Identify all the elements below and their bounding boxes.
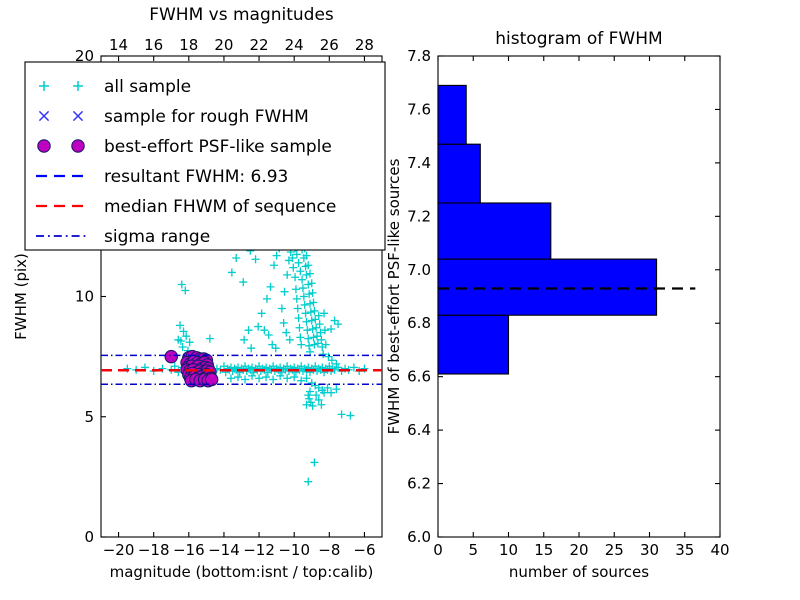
histogram-x-axis-label: number of sources xyxy=(509,563,649,581)
plus-icon xyxy=(310,333,318,341)
scatter-top-tick-label: 20 xyxy=(214,36,233,54)
plus-icon xyxy=(317,336,325,344)
scatter-y-tick-label: 5 xyxy=(84,408,94,426)
plus-icon xyxy=(302,271,310,279)
plus-icon xyxy=(228,268,236,276)
plus-icon xyxy=(245,326,253,334)
plus-icon xyxy=(331,317,339,325)
histogram-panel[interactable]: histogram of FWHM0510152025303540number … xyxy=(385,29,730,581)
circle-icon xyxy=(72,140,84,152)
legend-item-label: all sample xyxy=(104,77,191,97)
plus-icon xyxy=(254,323,262,331)
plus-icon xyxy=(241,375,249,383)
scatter-y-axis-label: FWHM (pix) xyxy=(12,253,30,340)
plus-icon xyxy=(252,255,260,263)
histogram-x-tick-label: 15 xyxy=(534,541,553,559)
histogram-y-tick-label: 6.0 xyxy=(407,528,431,546)
scatter-top-tick-label: 16 xyxy=(144,36,163,54)
plus-icon xyxy=(176,321,184,329)
histogram-y-tick-label: 6.2 xyxy=(407,475,431,493)
histogram-y-tick-label: 7.0 xyxy=(407,261,431,279)
plus-icon xyxy=(248,372,256,380)
plus-icon xyxy=(334,320,342,328)
scatter-x-tick-label: −12 xyxy=(243,541,275,559)
plus-icon xyxy=(227,374,235,382)
plus-icon xyxy=(295,324,303,332)
plus-icon xyxy=(186,338,194,346)
plus-icon xyxy=(255,374,263,382)
plus-icon xyxy=(307,308,315,316)
histogram-y-axis-label: FWHM of best-effort PSF-like sources xyxy=(385,158,403,434)
plus-icon xyxy=(308,317,316,325)
plus-icon xyxy=(293,295,301,303)
histogram-x-tick-label: 0 xyxy=(433,541,443,559)
scatter-y-tick-label: 10 xyxy=(75,288,94,306)
plus-icon xyxy=(269,375,277,383)
plus-icon xyxy=(282,329,290,337)
plus-icon xyxy=(281,288,289,296)
plus-icon xyxy=(265,331,273,339)
plus-icon xyxy=(178,280,186,288)
plus-icon xyxy=(295,314,303,322)
plus-icon xyxy=(303,326,311,334)
plus-icon xyxy=(171,362,179,370)
plus-icon xyxy=(247,344,255,352)
plus-icon xyxy=(296,267,304,275)
plus-icon xyxy=(338,410,346,418)
histogram-x-tick-label: 25 xyxy=(605,541,624,559)
plus-icon xyxy=(286,336,294,344)
plus-icon xyxy=(260,326,268,334)
plus-icon xyxy=(297,341,305,349)
histogram-x-tick-label: 35 xyxy=(675,541,694,559)
plus-icon xyxy=(258,309,266,317)
plus-icon xyxy=(309,402,317,410)
plus-icon xyxy=(270,261,278,269)
plus-icon xyxy=(263,295,271,303)
plus-icon xyxy=(280,319,288,327)
histogram-x-tick-label: 30 xyxy=(640,541,659,559)
histogram-bar[interactable] xyxy=(438,203,551,259)
plus-icon xyxy=(310,307,318,315)
scatter-top-tick-label: 22 xyxy=(250,36,269,54)
plus-icon xyxy=(298,276,306,284)
scatter-x-tick-label: −18 xyxy=(138,541,170,559)
scatter-x-tick-label: −20 xyxy=(103,541,135,559)
plus-icon xyxy=(240,336,248,344)
circle-icon xyxy=(38,140,50,152)
plus-icon xyxy=(313,332,321,340)
plus-icon xyxy=(304,391,312,399)
histogram-y-tick-label: 6.4 xyxy=(407,421,431,439)
legend-item-label: best-effort PSF-like sample xyxy=(104,137,332,157)
plus-icon xyxy=(302,318,310,326)
plus-icon xyxy=(316,320,324,328)
plus-icon xyxy=(314,339,322,347)
plus-icon xyxy=(283,374,291,382)
plus-icon xyxy=(268,341,276,349)
histogram-x-tick-label: 40 xyxy=(710,541,729,559)
plus-icon xyxy=(304,335,312,343)
plus-icon xyxy=(290,373,298,381)
scatter-x-tick-label: −6 xyxy=(353,541,375,559)
histogram-bar[interactable] xyxy=(438,315,509,374)
plus-icon xyxy=(346,412,354,420)
plus-icon xyxy=(327,389,335,397)
plus-icon xyxy=(305,342,313,350)
plus-icon xyxy=(272,344,280,352)
plus-icon xyxy=(309,289,317,297)
plus-icon xyxy=(312,324,320,332)
histogram-bar[interactable] xyxy=(438,144,480,203)
plus-icon xyxy=(310,299,318,307)
matplotlib-figure: FWHM vs magnitudes1416182022242628−20−18… xyxy=(0,0,800,600)
plus-icon xyxy=(310,458,318,466)
plus-icon xyxy=(292,285,300,293)
plus-icon xyxy=(239,278,247,286)
plus-icon xyxy=(299,284,307,292)
plus-icon xyxy=(283,271,291,279)
plus-icon xyxy=(309,325,317,333)
histogram-y-tick-label: 7.2 xyxy=(407,207,431,225)
circle-icon xyxy=(165,350,177,362)
plus-icon xyxy=(332,360,340,368)
plus-icon xyxy=(306,300,314,308)
plus-icon xyxy=(306,387,314,395)
scatter-series[interactable] xyxy=(123,244,368,485)
scatter-top-tick-label: 14 xyxy=(109,36,128,54)
histogram-title: histogram of FWHM xyxy=(495,29,662,49)
scatter-x-tick-label: −10 xyxy=(278,541,310,559)
plus-icon xyxy=(327,325,335,333)
plus-icon xyxy=(306,270,314,278)
histogram-bar[interactable] xyxy=(438,85,466,144)
scatter-top-tick-label: 18 xyxy=(179,36,198,54)
plus-icon xyxy=(234,373,242,381)
plus-icon xyxy=(206,335,214,343)
histogram-y-tick-label: 6.6 xyxy=(407,368,431,386)
plus-icon xyxy=(311,315,319,323)
legend[interactable]: all samplesample for rough FWHMbest-effo… xyxy=(25,62,385,250)
legend-item-label: sample for rough FWHM xyxy=(104,107,309,127)
histogram-y-tick-label: 6.8 xyxy=(407,314,431,332)
plus-icon xyxy=(273,252,281,260)
figure-canvas: FWHM vs magnitudes1416182022242628−20−18… xyxy=(0,0,800,600)
histogram-y-tick-label: 7.6 xyxy=(407,100,431,118)
plus-icon xyxy=(310,341,318,349)
histogram-x-tick-label: 5 xyxy=(468,541,478,559)
scatter-x-tick-label: −8 xyxy=(318,541,340,559)
histogram-y-tick-label: 7.8 xyxy=(407,47,431,65)
plus-icon xyxy=(266,283,274,291)
plus-icon xyxy=(302,309,310,317)
plus-icon xyxy=(308,279,316,287)
histogram-bars[interactable] xyxy=(438,85,657,374)
plus-icon xyxy=(291,273,299,281)
plus-icon xyxy=(332,385,340,393)
histogram-bar[interactable] xyxy=(438,259,657,315)
scatter-y-tick-label: 0 xyxy=(84,528,94,546)
plus-icon xyxy=(289,264,297,272)
plus-icon xyxy=(278,305,286,313)
histogram-x-tick-label: 10 xyxy=(499,541,518,559)
plus-icon xyxy=(179,343,187,351)
scatter-x-axis-label: magnitude (bottom:isnt / top:calib) xyxy=(110,563,374,581)
legend-item-label: median FHWM of sequence xyxy=(104,197,336,217)
plus-icon xyxy=(301,301,309,309)
plus-icon xyxy=(262,373,270,381)
plus-icon xyxy=(295,259,303,267)
scatter-top-tick-label: 28 xyxy=(355,36,374,54)
plus-icon xyxy=(276,372,284,380)
scatter-top-tick-label: 24 xyxy=(285,36,304,54)
plus-icon xyxy=(181,286,189,294)
scatter-x-tick-label: −16 xyxy=(173,541,205,559)
plus-icon xyxy=(296,333,304,341)
legend-item-label: resultant FWHM: 6.93 xyxy=(104,167,288,187)
plus-icon xyxy=(304,280,312,288)
plus-icon xyxy=(232,254,240,262)
scatter-top-tick-label: 26 xyxy=(320,36,339,54)
legend-item-label: sigma range xyxy=(104,227,210,247)
plus-icon xyxy=(294,305,302,313)
histogram-y-tick-label: 7.4 xyxy=(407,154,431,172)
plus-icon xyxy=(304,478,312,486)
scatter-title: FWHM vs magnitudes xyxy=(149,5,334,25)
scatter-data-layer xyxy=(101,244,382,485)
histogram-x-tick-label: 20 xyxy=(569,541,588,559)
plus-icon xyxy=(306,348,314,356)
scatter-x-tick-label: −14 xyxy=(208,541,240,559)
